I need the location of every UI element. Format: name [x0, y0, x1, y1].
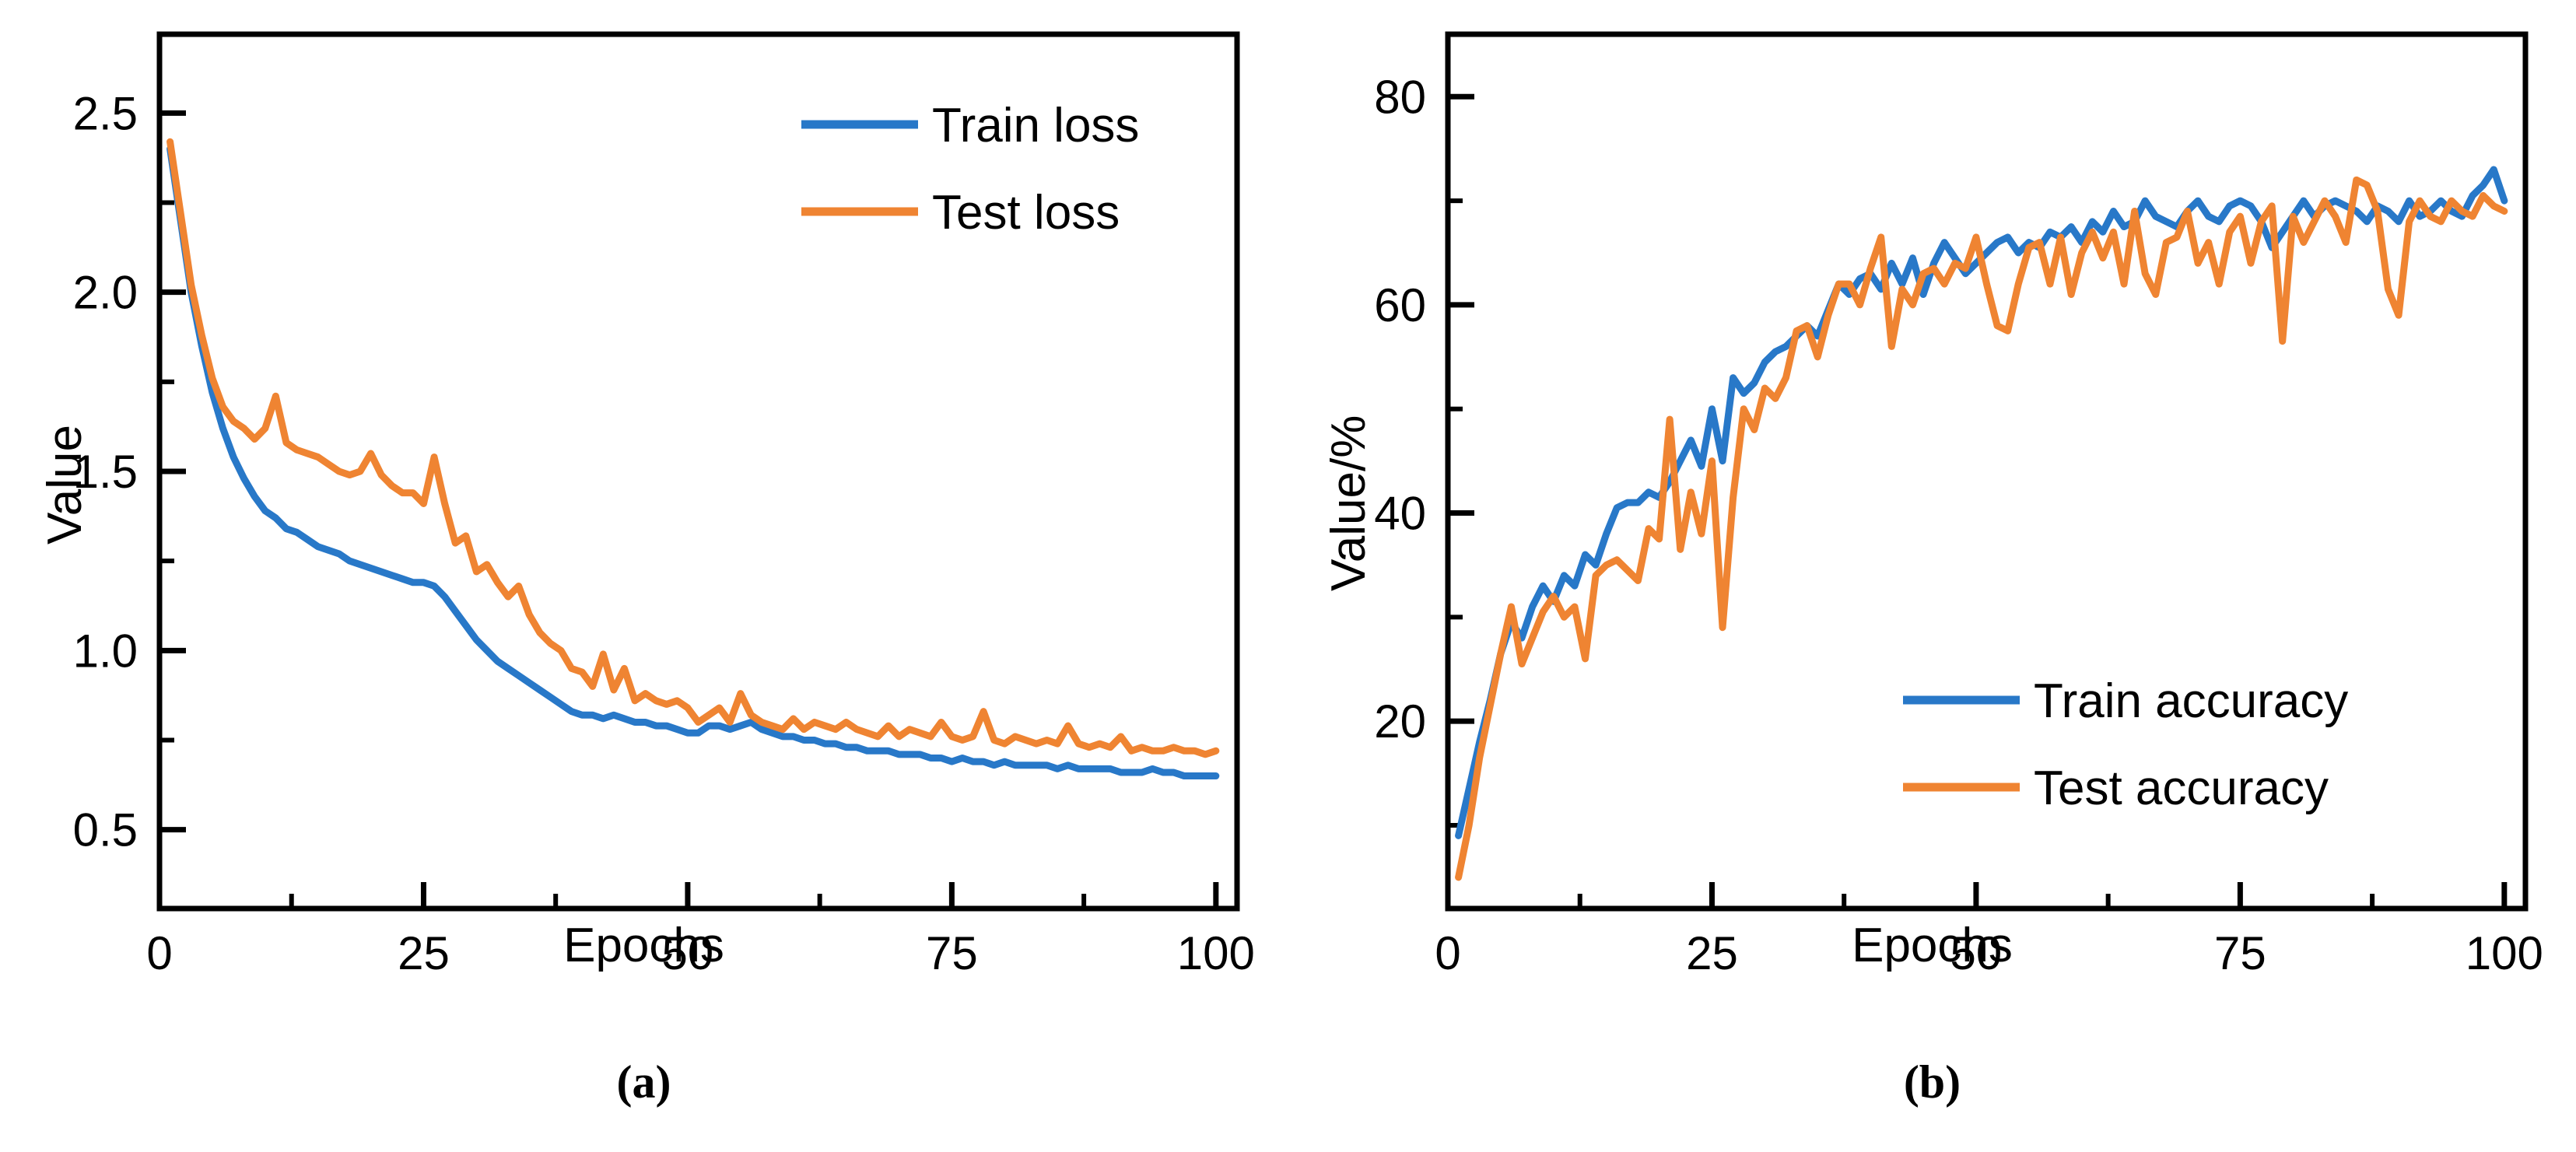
- panel-a: 0.51.01.52.02.50255075100Train lossTest …: [0, 0, 1288, 1152]
- panel-tag-b: (b): [1288, 1056, 2576, 1109]
- figure-root: 0.51.01.52.02.50255075100Train lossTest …: [0, 0, 2576, 1152]
- y-tick-label: 2.5: [73, 87, 138, 139]
- y-tick-label: 20: [1374, 695, 1426, 748]
- x-axis-label-a: Epochs: [0, 918, 1288, 973]
- legend-label: Train accuracy: [2034, 674, 2348, 728]
- series-line: [1459, 180, 2504, 877]
- y-tick-label: 2.0: [73, 267, 138, 319]
- y-tick-label: 1.0: [73, 625, 138, 677]
- legend-label: Train loss: [932, 99, 1139, 152]
- y-tick-label: 80: [1374, 71, 1426, 123]
- y-tick-label: 0.5: [73, 804, 138, 856]
- y-axis-label-b: Value/%: [1321, 415, 1376, 591]
- accuracy-chart: 204060800255075100Train accuracyTest acc…: [1288, 0, 2576, 1152]
- legend-label: Test loss: [932, 186, 1120, 240]
- y-tick-label: 40: [1374, 488, 1426, 540]
- panel-tag-a: (a): [0, 1056, 1288, 1109]
- y-tick-label: 60: [1374, 279, 1426, 331]
- panel-b: 204060800255075100Train accuracyTest acc…: [1288, 0, 2576, 1152]
- x-axis-label-b: Epochs: [1288, 918, 2576, 973]
- legend-label: Test accuracy: [2034, 762, 2329, 815]
- loss-chart: 0.51.01.52.02.50255075100Train lossTest …: [0, 0, 1288, 1152]
- y-axis-label-a: Value: [37, 425, 93, 544]
